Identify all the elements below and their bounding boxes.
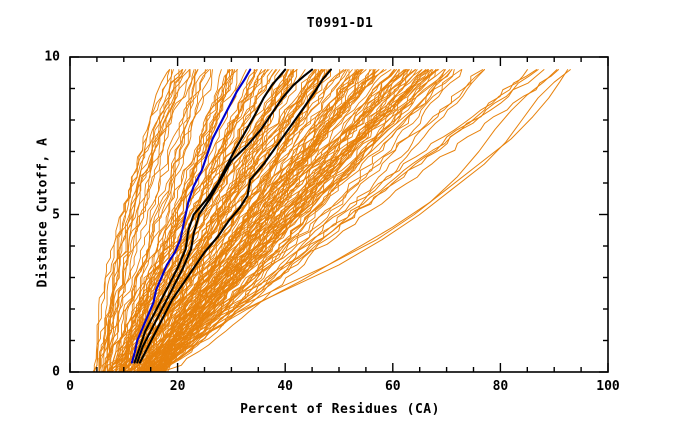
x-axis-label: Percent of Residues (CA) xyxy=(0,402,680,417)
chart-figure: T0991-D1 Distance Cutoff, A Percent of R… xyxy=(0,0,680,440)
page-title: T0991-D1 xyxy=(0,16,680,31)
x-tick-label-20: 20 xyxy=(170,379,186,394)
x-tick-label-100: 100 xyxy=(596,379,619,394)
x-tick-label-60: 60 xyxy=(385,379,401,394)
series-layer xyxy=(93,70,570,372)
y-tick-label-5: 5 xyxy=(42,207,60,222)
y-tick-label-10: 10 xyxy=(34,50,60,65)
plot-canvas xyxy=(0,0,680,440)
y-tick-label-0: 0 xyxy=(42,365,60,380)
x-tick-label-40: 40 xyxy=(277,379,293,394)
x-tick-label-0: 0 xyxy=(66,379,74,394)
x-tick-label-80: 80 xyxy=(493,379,509,394)
